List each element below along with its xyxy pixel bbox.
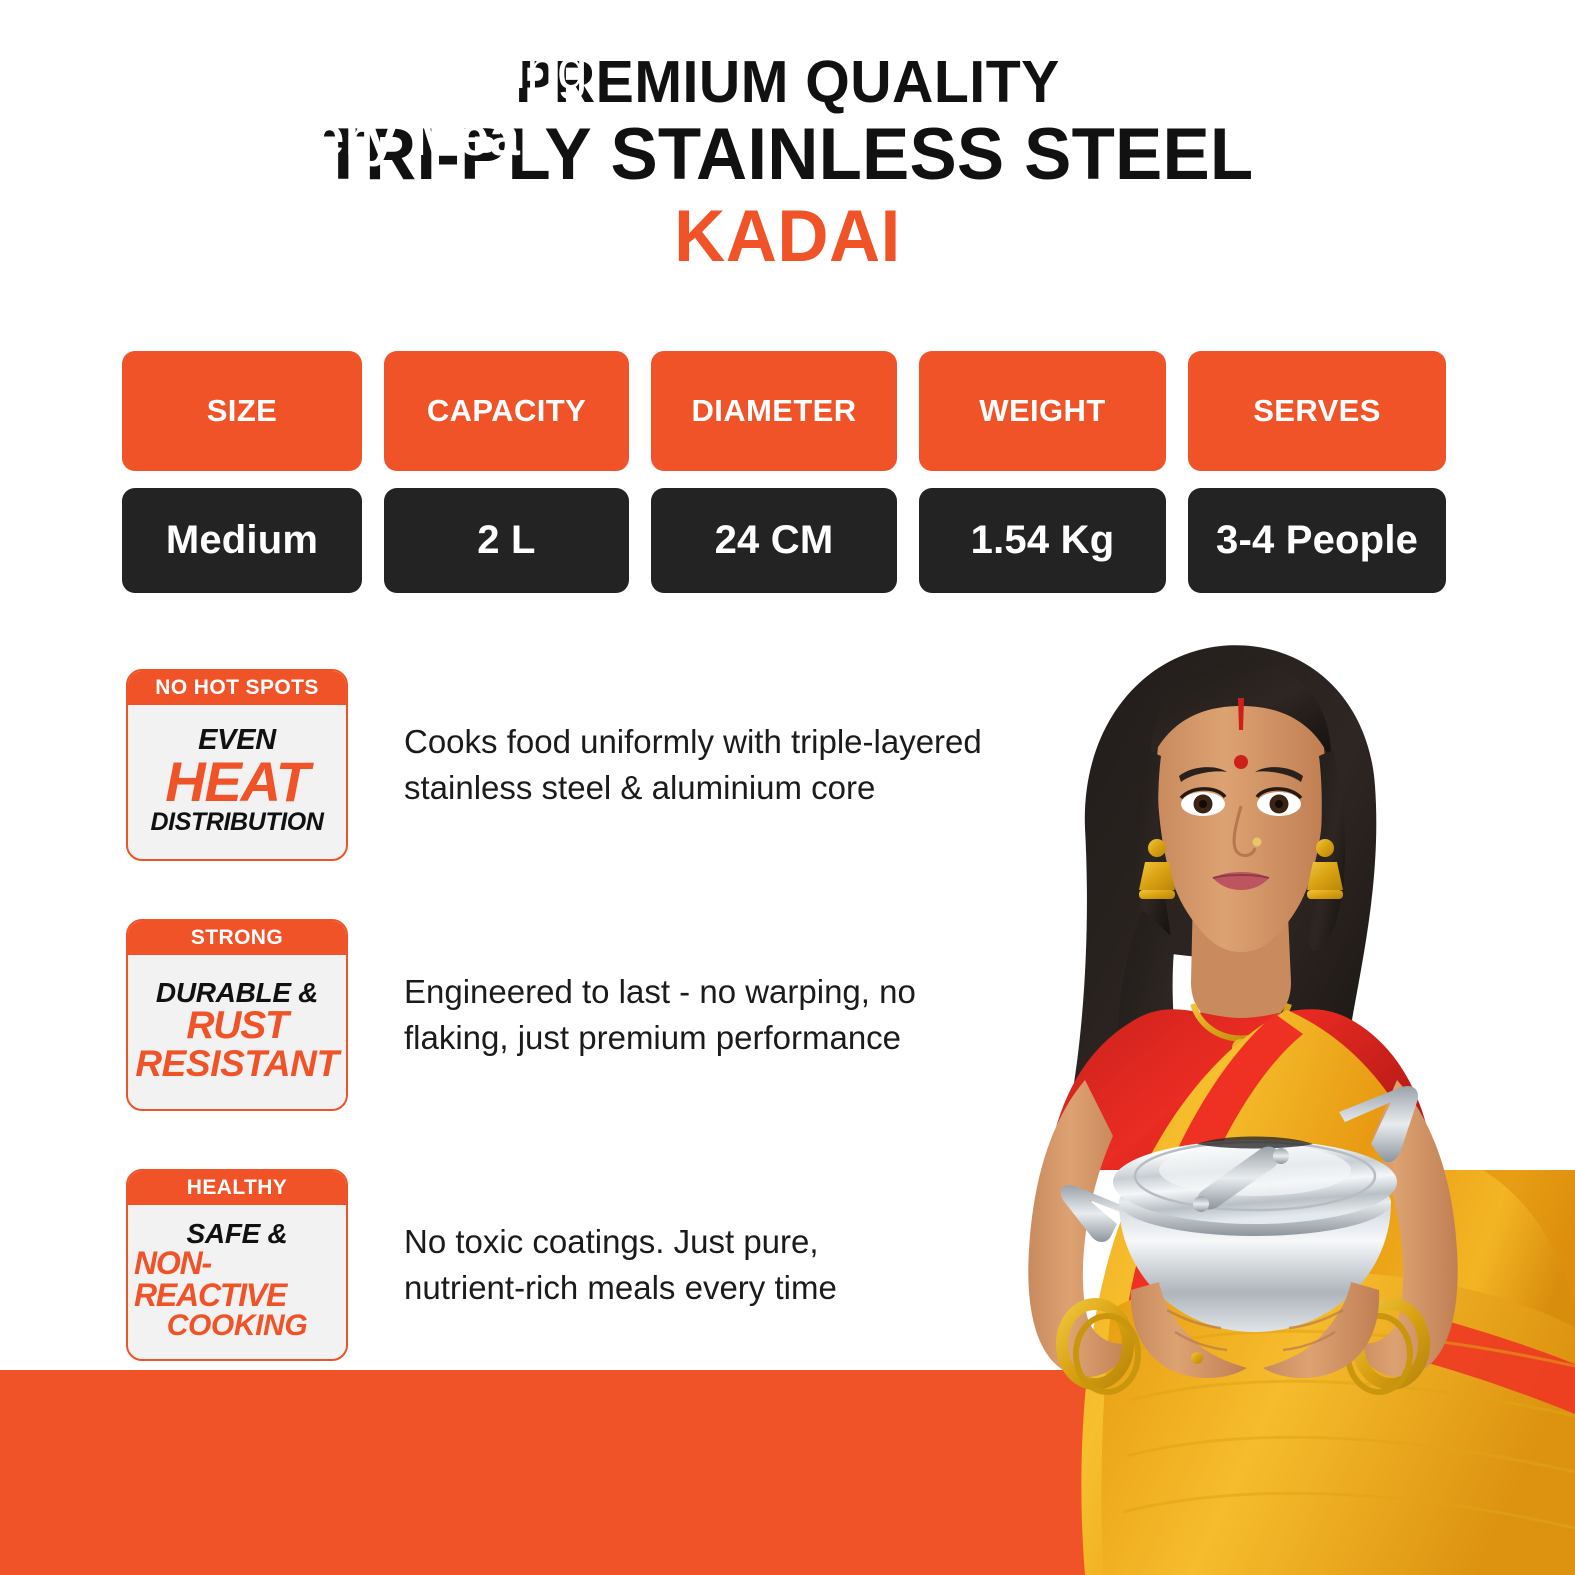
spec-value-size: Medium [122,488,362,593]
kadai-lid-handle-rivet-left [1193,1196,1209,1212]
hair-side-left [1135,750,1171,951]
badge-line-2: HEAT [165,755,309,810]
saree-fold [1483,1170,1575,1310]
badge-body: SAFE & NON-REACTIVE COOKING [128,1205,346,1359]
banner-word-cooking: Cooking [369,38,588,100]
arm-right [1353,1080,1458,1377]
necklace-pendant [1232,1039,1250,1057]
eyelash-left [1181,789,1225,798]
feature-description: No toxic coatings. Just pure, nutrient-r… [404,1219,837,1310]
feature-description: Cooks food uniformly with triple-layered… [404,719,982,810]
necklace-chain [1193,1004,1289,1039]
kadai-handle-right [1339,1086,1418,1162]
spec-header-diameter: DIAMETER [651,351,897,471]
iris-right [1270,795,1289,814]
feature-description-line-1: No toxic coatings. Just pure, [404,1219,837,1265]
feature-description: Engineered to last - no warping, no flak… [404,969,916,1060]
badge-header: STRONG [128,921,346,955]
pupil-right [1275,800,1283,808]
banner-tagline: Healthier Cooking with Every Meal [132,36,588,170]
kadai-lid [1113,1140,1397,1224]
kadai-lid-handle [1198,1147,1279,1210]
kadai-body [1119,1202,1391,1332]
feature-badge-non-reactive: HEALTHY SAFE & NON-REACTIVE COOKING [126,1169,348,1361]
eye-left-white [1181,792,1225,816]
banner-word-with: with [132,105,246,167]
feature-description-line-1: Engineered to last - no warping, no [404,969,916,1015]
pupil-left [1199,800,1207,808]
kadai-lid-reflection [1197,1137,1313,1149]
banner-word-every-meal: Every Meal [246,105,535,167]
feature-row: STRONG DURABLE & RUST RESISTANT Engineer… [126,890,1086,1140]
spec-column-weight: WEIGHT 1.54 Kg [919,351,1166,593]
banner-tagline-line-2: with Every Meal [132,103,588,170]
feature-description-line-2: flaking, just premium performance [404,1015,916,1061]
feature-description-line-1: Cooks food uniformly with triple-layered [404,719,982,765]
feature-description-line-2: stainless steel & aluminium core [404,765,982,811]
bindi [1234,755,1248,769]
finger-lines [1167,1310,1343,1350]
spec-value-capacity: 2 L [384,488,629,593]
badge-line-3: RESISTANT [135,1045,338,1082]
badge-header: HEALTHY [128,1171,346,1205]
badge-body: DURABLE & RUST RESISTANT [128,955,346,1109]
banner-tagline-line-1: Healthier Cooking [132,36,588,103]
kadai-lid-highlight [1159,1144,1351,1196]
banner-word-healthier: Healthier [132,38,369,100]
bottom-banner [0,1370,1575,1575]
spec-column-diameter: DIAMETER 24 CM [651,351,897,593]
badge-line-1: SAFE & [187,1220,288,1248]
blouse [1047,1009,1435,1170]
headline-product-name: KADAI [24,198,1552,275]
badge-line-1: DURABLE & [156,979,318,1007]
spec-table: SIZE Medium CAPACITY 2 L DIAMETER 24 CM … [122,351,1446,593]
iris-left [1194,795,1213,814]
badge-line-2: RUST [186,1007,287,1045]
feature-description-line-2: nutrient-rich meals every time [404,1265,837,1311]
spec-column-capacity: CAPACITY 2 L [384,351,629,593]
eyebrow-right [1255,767,1303,782]
spec-header-capacity: CAPACITY [384,351,629,471]
feature-badge-even-heat: NO HOT SPOTS EVEN HEAT DISTRIBUTION [126,669,348,861]
kadai-lid-ring [1135,1142,1375,1210]
spec-header-size: SIZE [122,351,362,471]
kadai-lid-handle-rivet-right [1273,1148,1289,1164]
lip-line [1213,875,1269,878]
finger-ring [1191,1352,1203,1364]
hand-right [1263,1282,1379,1378]
spec-column-size: SIZE Medium [122,351,362,593]
feature-row: HEALTHY SAFE & NON-REACTIVE COOKING No t… [126,1140,1086,1390]
hair-back [1069,645,1377,1226]
kadai-rim [1119,1168,1391,1236]
neck [1191,892,1291,1028]
badge-header: NO HOT SPOTS [128,671,346,705]
hand-left [1131,1282,1247,1378]
nose [1234,806,1255,855]
spec-header-serves: SERVES [1188,351,1446,471]
earring-left [1139,839,1175,899]
nose-stud [1253,838,1262,847]
necklace-pendant-drop [1234,1059,1248,1073]
spec-header-weight: WEIGHT [919,351,1166,471]
spec-value-serves: 3-4 People [1188,488,1446,593]
badge-line-3: DISTRIBUTION [151,810,324,835]
feature-list: NO HOT SPOTS EVEN HEAT DISTRIBUTION Cook… [126,640,1086,1390]
badge-line-2: NON-REACTIVE [134,1248,340,1311]
lips [1213,872,1269,890]
spec-value-weight: 1.54 Kg [919,488,1166,593]
feature-badge-rust-resistant: STRONG DURABLE & RUST RESISTANT [126,919,348,1111]
badge-line-3: COOKING [167,1311,308,1341]
face [1157,672,1325,952]
eye-right-white [1257,792,1301,816]
hair-side-right [1310,750,1346,951]
spec-value-diameter: 24 CM [651,488,897,593]
badge-body: EVEN HEAT DISTRIBUTION [128,705,346,859]
spec-column-serves: SERVES 3-4 People [1188,351,1446,593]
hair-front [1151,660,1331,760]
eyelash-right [1257,789,1301,798]
sindoor [1238,698,1244,730]
product-infographic: PREMIUM QUALITY TRI-PLY STAINLESS STEEL … [0,0,1575,1575]
earring-right [1307,839,1343,899]
eyebrow-left [1179,767,1227,782]
feature-row: NO HOT SPOTS EVEN HEAT DISTRIBUTION Cook… [126,640,1086,890]
hair-braid [1117,910,1188,1178]
